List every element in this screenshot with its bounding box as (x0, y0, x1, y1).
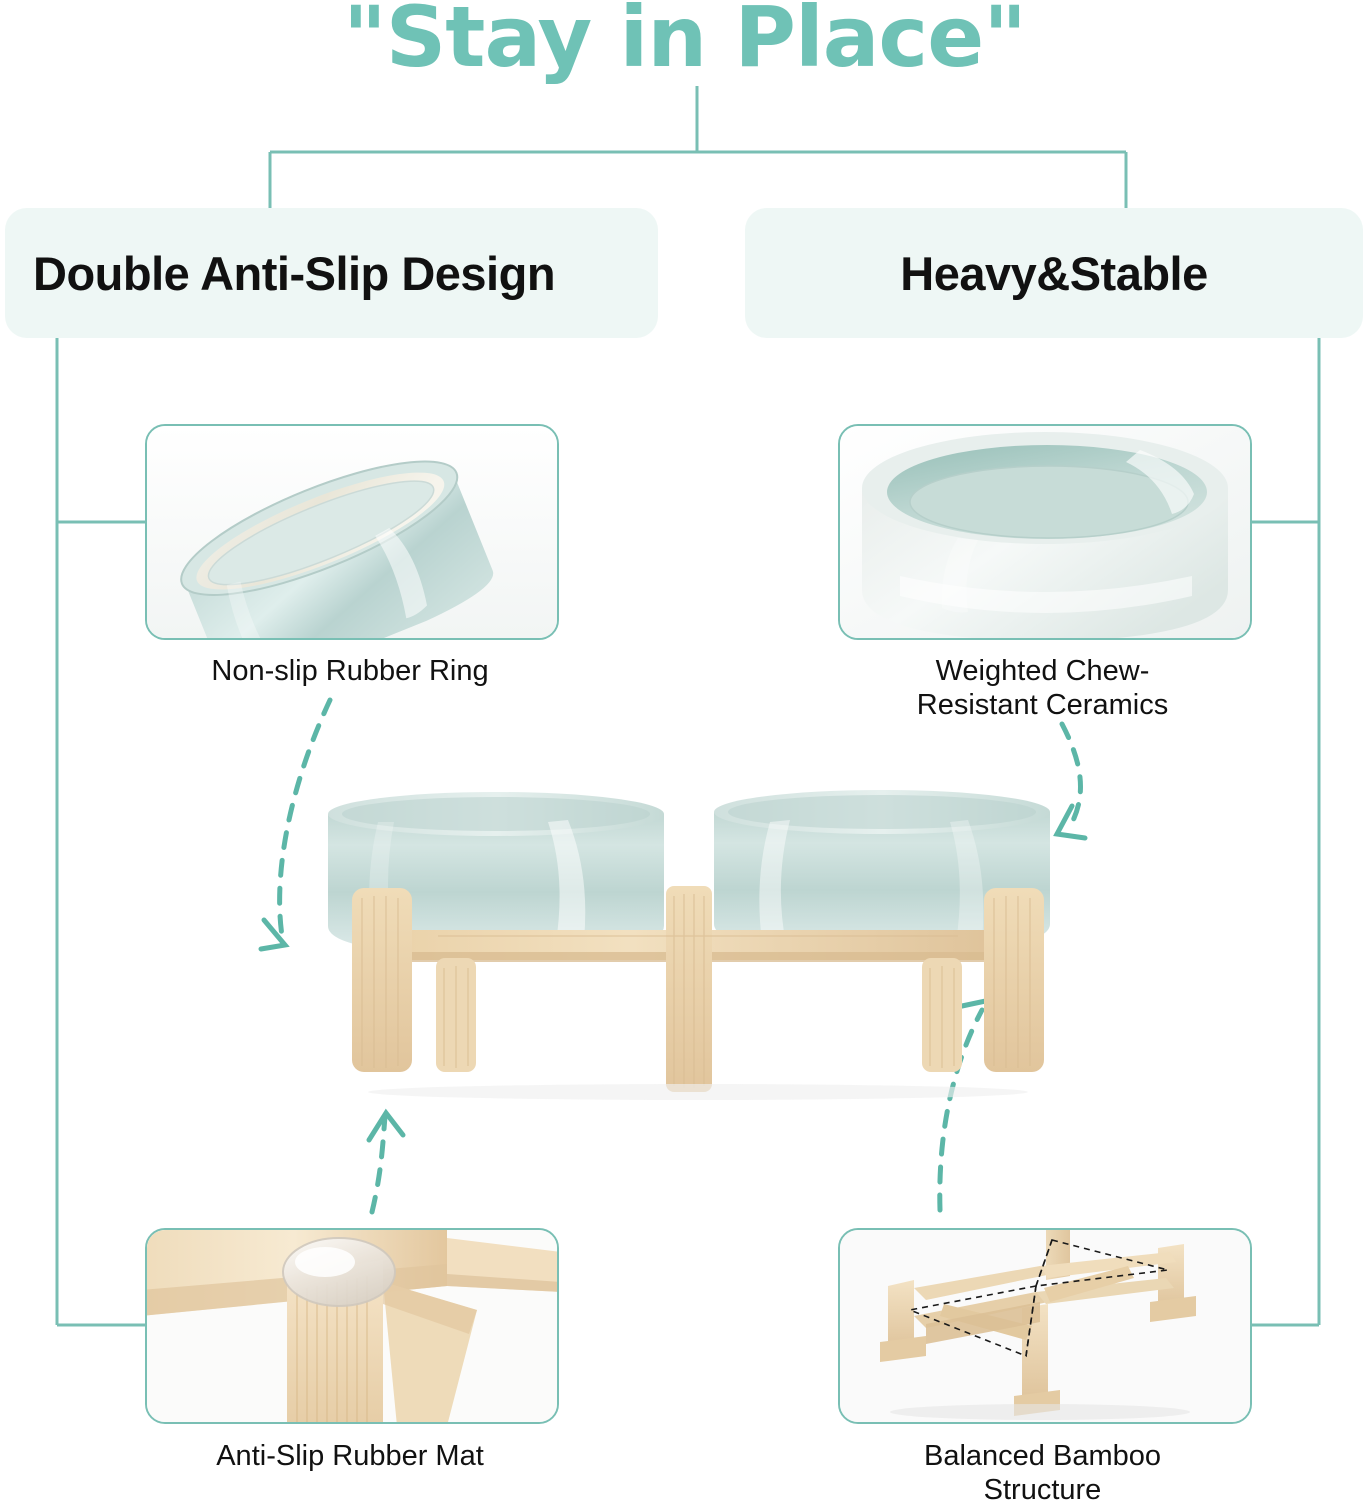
infographic-canvas: "Stay in Place" (0, 0, 1369, 1500)
caption-balanced-bamboo-structure: Balanced Bamboo Structure (790, 1440, 1295, 1507)
header-label-right: Heavy&Stable (900, 246, 1208, 301)
photo-bowl-base-rubber-ring (147, 426, 557, 638)
photo-bamboo-leg-rubber-pad (147, 1230, 557, 1422)
caption-weighted-chew-resistant-ceramics: Weighted Chew- Resistant Ceramics (790, 655, 1295, 722)
panel-balanced-bamboo-structure (838, 1228, 1252, 1424)
product-image-double-bowls-bamboo-stand (318, 780, 1078, 1120)
caption-non-slip-rubber-ring: Non-slip Rubber Ring (85, 655, 615, 689)
panel-non-slip-rubber-ring (145, 424, 559, 640)
page-title: "Stay in Place" (0, 0, 1369, 86)
panel-weighted-chew-resistant-ceramics (838, 424, 1252, 640)
arrow-to-leg-foot (372, 1116, 385, 1212)
header-pill-heavy-stable: Heavy&Stable (745, 208, 1363, 338)
caption-anti-slip-rubber-mat: Anti-Slip Rubber Mat (85, 1440, 615, 1474)
photo-ceramic-bowl-interior (840, 426, 1250, 638)
arrowhead-bowl-rim (261, 920, 285, 949)
header-pill-double-anti-slip: Double Anti-Slip Design (5, 208, 658, 338)
panel-anti-slip-rubber-mat (145, 1228, 559, 1424)
photo-bamboo-stand-triangles (840, 1230, 1250, 1422)
header-label-left: Double Anti-Slip Design (33, 246, 555, 301)
